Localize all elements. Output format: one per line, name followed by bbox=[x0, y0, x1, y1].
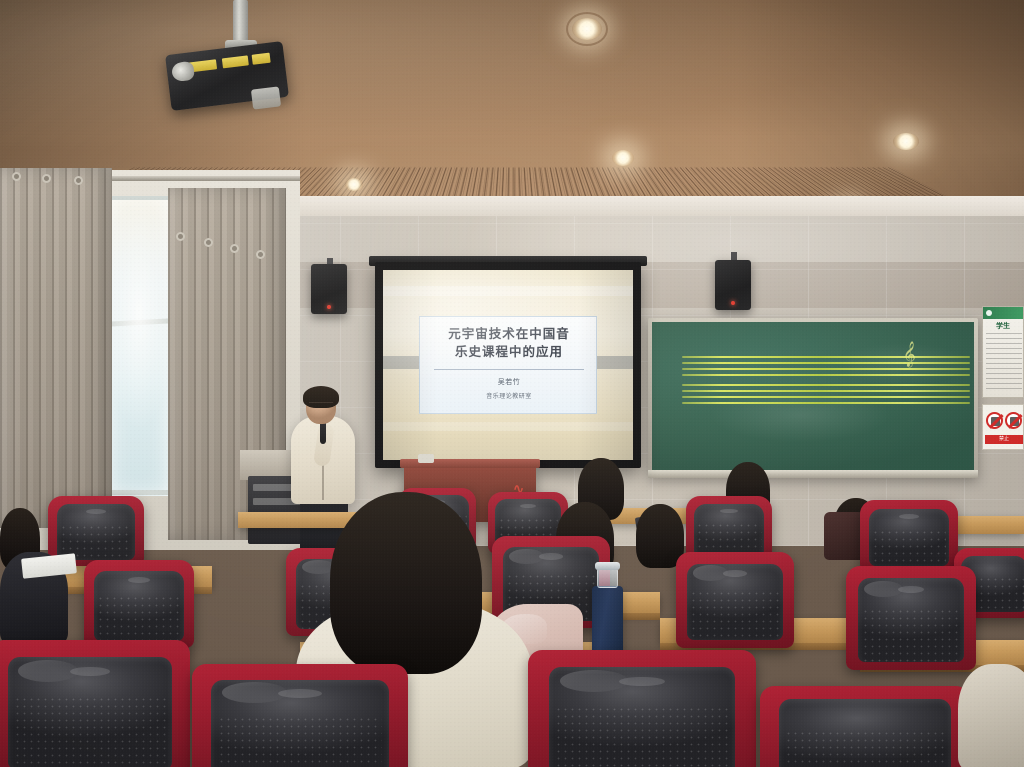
chair-handle bbox=[899, 514, 919, 519]
notice-body-text bbox=[986, 333, 1022, 393]
chair-front-right[interactable] bbox=[528, 650, 756, 767]
chair-handle bbox=[720, 509, 737, 514]
staff-line bbox=[682, 356, 970, 358]
window-mullion-1 bbox=[108, 196, 170, 200]
chair-mid-4[interactable] bbox=[846, 566, 976, 670]
no-smoking-icon bbox=[1005, 412, 1022, 429]
projector-vent bbox=[251, 86, 281, 109]
notice-title: 学生 bbox=[983, 321, 1023, 331]
chair-mid-3[interactable] bbox=[676, 552, 794, 648]
curtain-grommet bbox=[204, 238, 213, 247]
chair-handle bbox=[128, 577, 150, 583]
downlight-2 bbox=[612, 150, 634, 166]
chalk-tray bbox=[648, 470, 978, 478]
prohibition-sign-panel: 禁止 bbox=[982, 404, 1024, 450]
chair-front-left[interactable] bbox=[0, 640, 190, 767]
treble-clef-icon: 𝄞 bbox=[902, 342, 917, 368]
curtain-grommet bbox=[230, 244, 239, 253]
curtain-left-panel[interactable] bbox=[0, 168, 112, 528]
staff-line bbox=[682, 402, 970, 404]
student-notice-board[interactable]: 学生 bbox=[982, 306, 1024, 398]
thermos-cap bbox=[595, 562, 620, 570]
slide-divider bbox=[434, 369, 584, 370]
staff-line bbox=[682, 362, 970, 364]
slide-band-mid bbox=[383, 422, 633, 431]
prohibition-banner: 禁止 bbox=[985, 435, 1023, 444]
notice-header-bar bbox=[983, 307, 1023, 319]
desk-row-back-left bbox=[238, 512, 358, 528]
staff-line bbox=[682, 374, 970, 376]
chair-sheen bbox=[864, 581, 903, 598]
speaker-left-led bbox=[327, 305, 331, 309]
chair-mid-5[interactable] bbox=[84, 560, 194, 648]
staff-line bbox=[682, 384, 970, 386]
window-glass bbox=[108, 196, 170, 496]
cigarette-glyph bbox=[1010, 417, 1019, 426]
projection-screen[interactable]: 元宇宙技术在中国音 乐史课程中的应用 吴若竹 音乐理论教研室 bbox=[383, 270, 633, 460]
student-front-center-hair bbox=[330, 492, 482, 674]
staff-line bbox=[682, 368, 970, 370]
classroom-photo: 𝄞 学生 禁止 元宇宙技术在中国音 乐史课程中 bbox=[0, 0, 1024, 767]
no-food-drink-icon bbox=[986, 412, 1003, 429]
chair-perforation bbox=[872, 529, 946, 566]
chair-sheen bbox=[693, 565, 728, 580]
chair-perforation bbox=[785, 730, 945, 767]
student-far-right-body bbox=[958, 664, 1024, 767]
speaker-right-led bbox=[731, 301, 735, 305]
wall-speaker-right bbox=[715, 260, 751, 310]
curtain-grommet bbox=[42, 174, 51, 183]
curtain-grommet bbox=[176, 232, 185, 241]
staff-line bbox=[682, 390, 970, 392]
chair-back-4[interactable] bbox=[860, 500, 958, 572]
chair-sheen bbox=[560, 670, 628, 692]
window-mullion-3 bbox=[108, 490, 170, 495]
chair-front-far-right[interactable] bbox=[760, 686, 970, 767]
projector-warning-label-2 bbox=[222, 55, 249, 68]
projection-screen-frame: 元宇宙技术在中国音 乐史课程中的应用 吴若竹 音乐理论教研室 bbox=[375, 262, 641, 468]
chair-sheen bbox=[222, 682, 287, 703]
curtain-grommet bbox=[74, 176, 83, 185]
slide-title-line1: 元宇宙技术在中国音 bbox=[426, 325, 592, 343]
projector-warning-label-3 bbox=[252, 53, 271, 65]
chair-perforation bbox=[14, 696, 166, 767]
chair-perforation bbox=[218, 716, 382, 767]
chair-perforation bbox=[690, 590, 780, 640]
chair-perforation bbox=[862, 608, 961, 662]
blackboard[interactable]: 𝄞 bbox=[652, 322, 974, 472]
chair-front-center[interactable] bbox=[192, 664, 408, 767]
chair-perforation bbox=[555, 706, 728, 767]
downlight-4 bbox=[893, 133, 919, 150]
chair-handle bbox=[520, 504, 536, 508]
food-glyph bbox=[991, 417, 1000, 426]
slide-title-line2: 乐史课程中的应用 bbox=[426, 343, 592, 361]
downlight-3 bbox=[345, 178, 363, 191]
slide-department: 音乐理论教研室 bbox=[420, 391, 598, 400]
staff-line bbox=[682, 396, 970, 398]
thermos-neck bbox=[597, 568, 618, 588]
notice-logo-icon bbox=[986, 310, 992, 316]
prohibition-banner-text: 禁止 bbox=[985, 435, 1023, 444]
slide-accent-bar-right bbox=[597, 356, 633, 369]
chair-sheen bbox=[18, 660, 78, 682]
slide-title-card: 元宇宙技术在中国音 乐史课程中的应用 吴若竹 音乐理论教研室 bbox=[419, 316, 597, 414]
curtain-grommet bbox=[256, 250, 265, 259]
wall-speaker-left bbox=[311, 264, 347, 314]
downlight-1-ring bbox=[566, 12, 608, 46]
blackboard-frame: 𝄞 bbox=[648, 318, 978, 478]
slide-accent-bar-left bbox=[383, 356, 421, 369]
podium-device bbox=[418, 454, 434, 463]
presenter-glasses bbox=[309, 402, 333, 408]
chair-sheen bbox=[509, 549, 544, 564]
slide-presenter-name: 吴若竹 bbox=[420, 377, 598, 387]
curtain-grommet bbox=[12, 172, 21, 181]
chair-perforation bbox=[97, 595, 181, 641]
slide-band-top bbox=[383, 286, 633, 296]
